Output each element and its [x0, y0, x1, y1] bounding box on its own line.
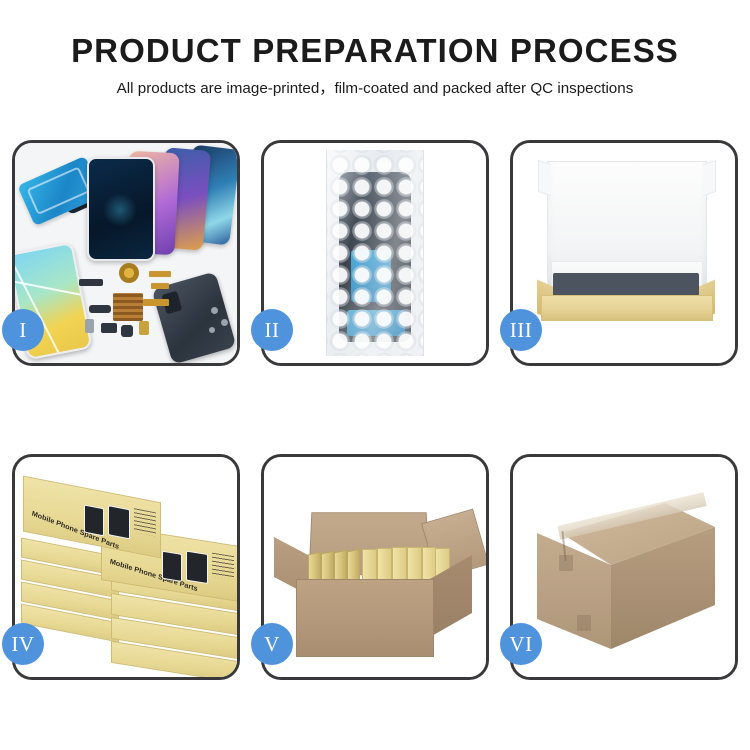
- spec-text-lines: [212, 553, 234, 580]
- spare-part-icon: [139, 321, 149, 335]
- step-badge-6: VI: [500, 623, 542, 665]
- scene-bubble-wrap: [264, 143, 486, 363]
- step-image-1: [15, 143, 237, 363]
- page-title: PRODUCT PREPARATION PROCESS: [0, 34, 750, 67]
- step-badge-3: III: [500, 309, 542, 351]
- bubble-wrap-package-icon: [326, 150, 424, 356]
- step-image-6: [513, 457, 735, 677]
- spare-part-icon: [89, 305, 111, 313]
- spare-part-icon: [119, 263, 139, 283]
- phone-print-icon: [84, 504, 104, 536]
- open-carton-icon: [278, 497, 474, 657]
- scene-sealed-carton: [513, 457, 735, 677]
- scene-product-parts: [15, 143, 237, 363]
- page-header: PRODUCT PREPARATION PROCESS All products…: [0, 0, 750, 96]
- step-panel-2[interactable]: II: [261, 140, 489, 366]
- step-badge-4: IV: [2, 623, 44, 665]
- scene-stacked-boxes: Mobile Phone Spare Parts Mobile Phone Sp…: [15, 457, 237, 677]
- step-panel-4[interactable]: Mobile Phone Spare Parts Mobile Phone Sp…: [12, 454, 240, 680]
- spare-part-icon: [143, 299, 169, 306]
- process-steps-grid: I II III: [12, 140, 738, 680]
- carton-handle-tab: [577, 615, 591, 631]
- step-badge-1: I: [2, 309, 44, 351]
- box-stack: Mobile Phone Spare Parts Mobile Phone Sp…: [21, 483, 237, 673]
- spare-part-icon: [121, 325, 133, 337]
- spare-part-icon: [79, 279, 103, 286]
- box-front-panel: [541, 295, 713, 321]
- page-subtitle: All products are image-printed，film-coat…: [0, 81, 750, 96]
- step-image-4: Mobile Phone Spare Parts Mobile Phone Sp…: [15, 457, 237, 677]
- sealed-carton-icon: [537, 503, 715, 649]
- step-badge-2: II: [251, 309, 293, 351]
- step-panel-6[interactable]: VI: [510, 454, 738, 680]
- spare-part-icon: [211, 307, 218, 314]
- spec-text-lines: [134, 508, 156, 536]
- step-panel-3[interactable]: III: [510, 140, 738, 366]
- scene-open-inner-box: [513, 143, 735, 363]
- phone-display-icon: [87, 157, 155, 261]
- step-panel-1[interactable]: I: [12, 140, 240, 366]
- scene-open-carton: [264, 457, 486, 677]
- carton-handle-tab: [559, 555, 573, 571]
- step-panel-5[interactable]: V: [261, 454, 489, 680]
- spare-part-icon: [209, 327, 215, 333]
- step-image-2: [264, 143, 486, 363]
- film-gloss: [327, 150, 423, 356]
- carton-front-panel: [296, 579, 434, 657]
- spare-part-icon: [101, 323, 117, 333]
- spare-part-icon: [221, 319, 228, 326]
- step-image-3: [513, 143, 735, 363]
- phone-print-icon: [186, 551, 208, 584]
- spare-part-icon: [85, 319, 94, 333]
- step-image-5: [264, 457, 486, 677]
- phone-print-icon: [108, 505, 130, 539]
- spare-part-icon: [151, 283, 169, 289]
- spare-part-icon: [149, 271, 171, 277]
- spare-part-icon: [113, 293, 143, 321]
- phone-print-icon: [162, 551, 182, 582]
- step-badge-5: V: [251, 623, 293, 665]
